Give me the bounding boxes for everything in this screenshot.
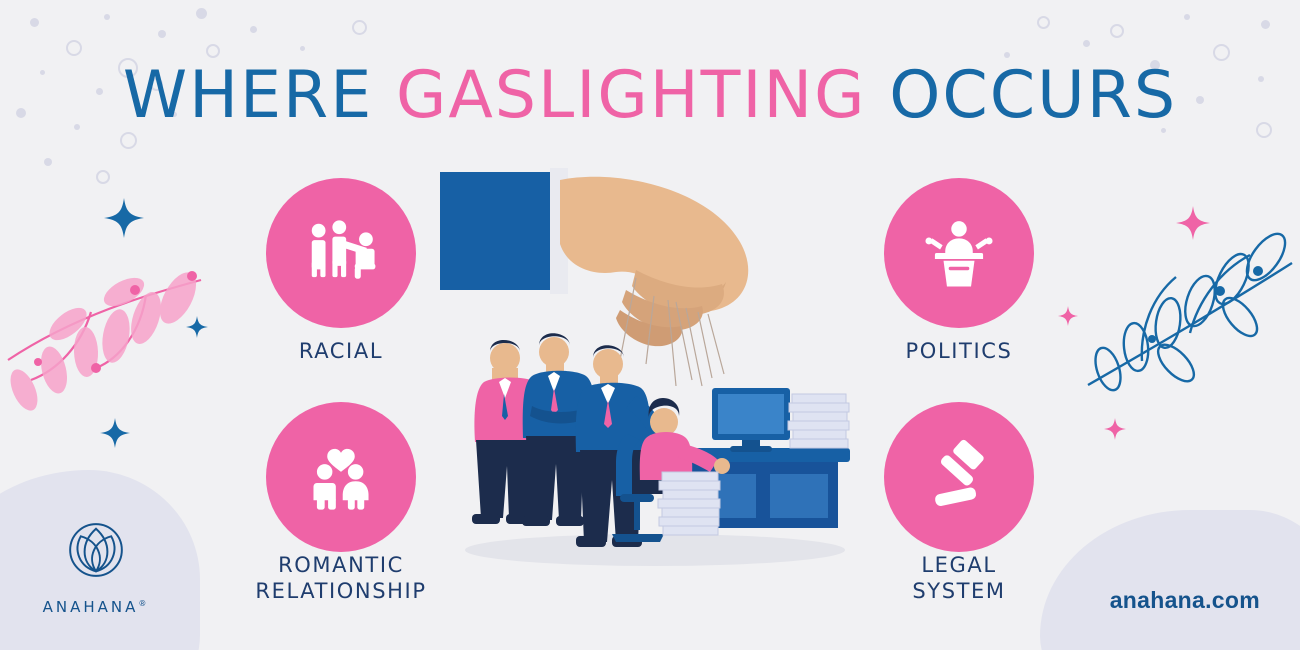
dot <box>196 8 207 19</box>
dot-ring <box>1110 24 1124 38</box>
badge-politics[interactable] <box>884 178 1034 328</box>
puppeteer-hand-office-scene <box>440 150 880 580</box>
dot-ring <box>206 44 220 58</box>
dot <box>1184 14 1190 20</box>
dot-ring <box>352 20 367 35</box>
badge-label-racial: RACIAL <box>226 338 456 364</box>
title-part1: WHERE <box>123 58 396 133</box>
blue-four-point-star <box>186 316 208 338</box>
page-title: WHERE GASLIGHTING OCCURS <box>0 58 1300 133</box>
pink-four-point-star <box>1176 206 1210 240</box>
podium-speaker-icon <box>916 210 1002 296</box>
dot-ring <box>120 132 137 149</box>
dot-ring <box>96 170 110 184</box>
couple-heart-icon <box>298 434 384 520</box>
group-people-icon <box>298 210 384 296</box>
blue-four-point-star <box>100 418 130 448</box>
dot-ring <box>66 40 82 56</box>
badge-legal[interactable] <box>884 402 1034 552</box>
decor-blob-right <box>1040 510 1300 650</box>
title-highlight: GASLIGHTING <box>396 58 867 133</box>
pink-leaf-branch <box>0 240 206 430</box>
brand-logo[interactable]: ANAHANA® <box>36 512 156 616</box>
pink-four-point-star <box>1058 306 1078 326</box>
website-url[interactable]: anahana.com <box>1110 587 1260 614</box>
badge-label-romantic: ROMANTIC RELATIONSHIP <box>226 552 456 605</box>
triquetra-icon <box>58 512 134 588</box>
gavel-icon <box>916 434 1002 520</box>
pink-four-point-star <box>1104 418 1126 440</box>
infographic-canvas: WHERE GASLIGHTING OCCURS <box>0 0 1300 650</box>
badge-label-romantic-line2: RELATIONSHIP <box>226 578 456 604</box>
badge-romantic[interactable] <box>266 402 416 552</box>
dot <box>1083 40 1090 47</box>
brand-name: ANAHANA® <box>36 598 156 616</box>
dot <box>44 158 52 166</box>
blue-four-point-star <box>104 198 144 238</box>
dot <box>30 18 39 27</box>
badge-label-romantic-line1: ROMANTIC <box>226 552 456 578</box>
brand-trademark: ® <box>138 599 149 608</box>
badge-racial[interactable] <box>266 178 416 328</box>
badge-label-legal-line2: SYSTEM <box>844 578 1074 604</box>
title-part2: OCCURS <box>867 58 1178 133</box>
dot-ring <box>1037 16 1050 29</box>
brand-name-text: ANAHANA <box>43 598 139 616</box>
dot <box>300 46 305 51</box>
dot <box>250 26 257 33</box>
dot <box>1261 20 1270 29</box>
dot <box>104 14 110 20</box>
dot <box>158 30 166 38</box>
